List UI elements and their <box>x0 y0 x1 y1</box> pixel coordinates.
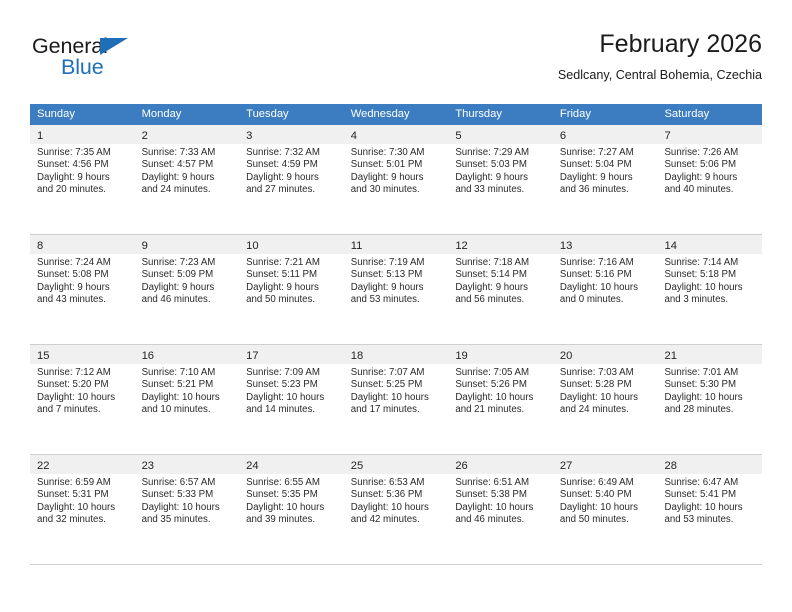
day-details: Sunrise: 7:30 AMSunset: 5:01 PMDaylight:… <box>344 144 449 197</box>
daylight-text-line2: and 46 minutes. <box>455 514 547 526</box>
sunrise-text: Sunrise: 6:53 AM <box>351 477 443 489</box>
day-number: 1 <box>37 130 43 142</box>
day-details: Sunrise: 6:59 AMSunset: 5:31 PMDaylight:… <box>30 474 135 527</box>
sunrise-text: Sunrise: 7:07 AM <box>351 367 443 379</box>
daylight-text-line2: and 53 minutes. <box>351 294 443 306</box>
sunrise-text: Sunrise: 7:35 AM <box>37 147 129 159</box>
day-number-band: 16 <box>135 345 240 364</box>
day-number: 25 <box>351 460 363 472</box>
day-number: 24 <box>246 460 258 472</box>
day-number-band: 26 <box>448 455 553 474</box>
daylight-text-line1: Daylight: 9 hours <box>37 172 129 184</box>
daylight-text-line1: Daylight: 10 hours <box>455 502 547 514</box>
day-number-band: 11 <box>344 235 449 254</box>
sunset-text: Sunset: 5:06 PM <box>664 159 756 171</box>
day-number: 10 <box>246 240 258 252</box>
daylight-text-line2: and 3 minutes. <box>664 294 756 306</box>
sunset-text: Sunset: 5:33 PM <box>142 489 234 501</box>
day-cell[interactable]: 17Sunrise: 7:09 AMSunset: 5:23 PMDayligh… <box>239 345 344 454</box>
day-cell[interactable]: 6Sunrise: 7:27 AMSunset: 5:04 PMDaylight… <box>553 125 658 234</box>
day-number: 17 <box>246 350 258 362</box>
page-header: General Blue February 2026 Sedlcany, Cen… <box>30 28 762 98</box>
day-number: 21 <box>664 350 676 362</box>
page-subtitle: Sedlcany, Central Bohemia, Czechia <box>558 65 762 85</box>
sunset-text: Sunset: 5:09 PM <box>142 269 234 281</box>
daylight-text-line1: Daylight: 10 hours <box>246 392 338 404</box>
day-cell[interactable]: 2Sunrise: 7:33 AMSunset: 4:57 PMDaylight… <box>135 125 240 234</box>
sunset-text: Sunset: 5:30 PM <box>664 379 756 391</box>
weekday-header-saturday: Saturday <box>657 104 762 125</box>
sunset-text: Sunset: 5:35 PM <box>246 489 338 501</box>
sunrise-text: Sunrise: 6:47 AM <box>664 477 756 489</box>
day-details: Sunrise: 7:26 AMSunset: 5:06 PMDaylight:… <box>657 144 762 197</box>
day-number: 11 <box>351 240 363 252</box>
day-details: Sunrise: 7:19 AMSunset: 5:13 PMDaylight:… <box>344 254 449 307</box>
day-number-band: 24 <box>239 455 344 474</box>
day-cell[interactable]: 12Sunrise: 7:18 AMSunset: 5:14 PMDayligh… <box>448 235 553 344</box>
calendar-grid: SundayMondayTuesdayWednesdayThursdayFrid… <box>30 104 762 565</box>
day-details: Sunrise: 6:57 AMSunset: 5:33 PMDaylight:… <box>135 474 240 527</box>
day-details: Sunrise: 7:01 AMSunset: 5:30 PMDaylight:… <box>657 364 762 417</box>
day-details: Sunrise: 7:32 AMSunset: 4:59 PMDaylight:… <box>239 144 344 197</box>
day-number: 14 <box>664 240 676 252</box>
daylight-text-line2: and 21 minutes. <box>455 404 547 416</box>
weekday-header-row: SundayMondayTuesdayWednesdayThursdayFrid… <box>30 104 762 125</box>
day-number-band: 27 <box>553 455 658 474</box>
day-details: Sunrise: 7:23 AMSunset: 5:09 PMDaylight:… <box>135 254 240 307</box>
sunset-text: Sunset: 5:16 PM <box>560 269 652 281</box>
sunrise-text: Sunrise: 7:05 AM <box>455 367 547 379</box>
sunrise-text: Sunrise: 6:59 AM <box>37 477 129 489</box>
day-number: 26 <box>455 460 467 472</box>
sunset-text: Sunset: 5:23 PM <box>246 379 338 391</box>
day-number: 12 <box>455 240 467 252</box>
day-details: Sunrise: 7:10 AMSunset: 5:21 PMDaylight:… <box>135 364 240 417</box>
day-cell[interactable]: 28Sunrise: 6:47 AMSunset: 5:41 PMDayligh… <box>657 455 762 564</box>
sunrise-text: Sunrise: 7:19 AM <box>351 257 443 269</box>
daylight-text-line2: and 27 minutes. <box>246 184 338 196</box>
page-title: February 2026 <box>558 28 762 60</box>
sunset-text: Sunset: 5:25 PM <box>351 379 443 391</box>
day-number: 9 <box>142 240 148 252</box>
day-number: 2 <box>142 130 148 142</box>
sunset-text: Sunset: 5:28 PM <box>560 379 652 391</box>
day-cell[interactable]: 13Sunrise: 7:16 AMSunset: 5:16 PMDayligh… <box>553 235 658 344</box>
sunset-text: Sunset: 5:26 PM <box>455 379 547 391</box>
sunset-text: Sunset: 5:41 PM <box>664 489 756 501</box>
day-number-band: 6 <box>553 125 658 144</box>
sunrise-text: Sunrise: 6:51 AM <box>455 477 547 489</box>
day-number: 5 <box>455 130 461 142</box>
sunset-text: Sunset: 5:04 PM <box>560 159 652 171</box>
week-row: 22Sunrise: 6:59 AMSunset: 5:31 PMDayligh… <box>30 455 762 565</box>
sunset-text: Sunset: 4:56 PM <box>37 159 129 171</box>
daylight-text-line2: and 17 minutes. <box>351 404 443 416</box>
daylight-text-line1: Daylight: 9 hours <box>560 172 652 184</box>
daylight-text-line2: and 50 minutes. <box>560 514 652 526</box>
weekday-header-monday: Monday <box>135 104 240 125</box>
day-cell[interactable]: 19Sunrise: 7:05 AMSunset: 5:26 PMDayligh… <box>448 345 553 454</box>
day-details: Sunrise: 7:33 AMSunset: 4:57 PMDaylight:… <box>135 144 240 197</box>
day-cell[interactable]: 22Sunrise: 6:59 AMSunset: 5:31 PMDayligh… <box>30 455 135 564</box>
sunset-text: Sunset: 5:38 PM <box>455 489 547 501</box>
sunrise-text: Sunrise: 6:57 AM <box>142 477 234 489</box>
day-cell[interactable]: 5Sunrise: 7:29 AMSunset: 5:03 PMDaylight… <box>448 125 553 234</box>
daylight-text-line1: Daylight: 10 hours <box>142 502 234 514</box>
sunrise-text: Sunrise: 7:33 AM <box>142 147 234 159</box>
sunset-text: Sunset: 5:18 PM <box>664 269 756 281</box>
day-number-band: 2 <box>135 125 240 144</box>
day-cell[interactable]: 1Sunrise: 7:35 AMSunset: 4:56 PMDaylight… <box>30 125 135 234</box>
sunrise-text: Sunrise: 7:18 AM <box>455 257 547 269</box>
daylight-text-line2: and 33 minutes. <box>455 184 547 196</box>
daylight-text-line1: Daylight: 9 hours <box>246 172 338 184</box>
day-number-band: 17 <box>239 345 344 364</box>
day-details: Sunrise: 6:47 AMSunset: 5:41 PMDaylight:… <box>657 474 762 527</box>
day-number-band: 19 <box>448 345 553 364</box>
day-number-band: 18 <box>344 345 449 364</box>
day-number: 4 <box>351 130 357 142</box>
day-cell[interactable]: 20Sunrise: 7:03 AMSunset: 5:28 PMDayligh… <box>553 345 658 454</box>
daylight-text-line1: Daylight: 10 hours <box>142 392 234 404</box>
sunrise-text: Sunrise: 7:14 AM <box>664 257 756 269</box>
day-number: 27 <box>560 460 572 472</box>
day-number-band: 22 <box>30 455 135 474</box>
sunrise-text: Sunrise: 7:23 AM <box>142 257 234 269</box>
daylight-text-line1: Daylight: 9 hours <box>351 172 443 184</box>
daylight-text-line1: Daylight: 10 hours <box>560 282 652 294</box>
daylight-text-line1: Daylight: 9 hours <box>455 282 547 294</box>
day-cell[interactable]: 3Sunrise: 7:32 AMSunset: 4:59 PMDaylight… <box>239 125 344 234</box>
day-number-band: 8 <box>30 235 135 254</box>
weekday-header-friday: Friday <box>553 104 658 125</box>
daylight-text-line2: and 20 minutes. <box>37 184 129 196</box>
weekday-header-sunday: Sunday <box>30 104 135 125</box>
weekday-header-tuesday: Tuesday <box>239 104 344 125</box>
daylight-text-line2: and 7 minutes. <box>37 404 129 416</box>
sunrise-text: Sunrise: 7:27 AM <box>560 147 652 159</box>
sunset-text: Sunset: 5:36 PM <box>351 489 443 501</box>
day-details: Sunrise: 6:55 AMSunset: 5:35 PMDaylight:… <box>239 474 344 527</box>
day-cell[interactable]: 10Sunrise: 7:21 AMSunset: 5:11 PMDayligh… <box>239 235 344 344</box>
day-number: 23 <box>142 460 154 472</box>
sunrise-text: Sunrise: 7:26 AM <box>664 147 756 159</box>
general-blue-logo[interactable]: General Blue <box>32 36 232 92</box>
daylight-text-line2: and 46 minutes. <box>142 294 234 306</box>
day-cell[interactable]: 25Sunrise: 6:53 AMSunset: 5:36 PMDayligh… <box>344 455 449 564</box>
sunset-text: Sunset: 5:08 PM <box>37 269 129 281</box>
logo-text-blue: Blue <box>61 57 104 79</box>
sunset-text: Sunset: 5:31 PM <box>37 489 129 501</box>
day-number-band: 4 <box>344 125 449 144</box>
sunset-text: Sunset: 4:57 PM <box>142 159 234 171</box>
day-number-band: 5 <box>448 125 553 144</box>
daylight-text-line1: Daylight: 10 hours <box>664 502 756 514</box>
sunset-text: Sunset: 5:40 PM <box>560 489 652 501</box>
sunrise-text: Sunrise: 7:09 AM <box>246 367 338 379</box>
day-details: Sunrise: 7:21 AMSunset: 5:11 PMDaylight:… <box>239 254 344 307</box>
sunset-text: Sunset: 5:21 PM <box>142 379 234 391</box>
daylight-text-line2: and 14 minutes. <box>246 404 338 416</box>
week-row: 15Sunrise: 7:12 AMSunset: 5:20 PMDayligh… <box>30 345 762 455</box>
weekday-header-wednesday: Wednesday <box>344 104 449 125</box>
day-details: Sunrise: 6:51 AMSunset: 5:38 PMDaylight:… <box>448 474 553 527</box>
daylight-text-line2: and 53 minutes. <box>664 514 756 526</box>
week-row: 1Sunrise: 7:35 AMSunset: 4:56 PMDaylight… <box>30 125 762 235</box>
day-details: Sunrise: 6:49 AMSunset: 5:40 PMDaylight:… <box>553 474 658 527</box>
day-details: Sunrise: 6:53 AMSunset: 5:36 PMDaylight:… <box>344 474 449 527</box>
daylight-text-line1: Daylight: 10 hours <box>37 502 129 514</box>
day-cell[interactable]: 23Sunrise: 6:57 AMSunset: 5:33 PMDayligh… <box>135 455 240 564</box>
day-number: 22 <box>37 460 49 472</box>
daylight-text-line1: Daylight: 10 hours <box>560 502 652 514</box>
day-number: 28 <box>664 460 676 472</box>
sunset-text: Sunset: 4:59 PM <box>246 159 338 171</box>
day-number-band: 9 <box>135 235 240 254</box>
daylight-text-line1: Daylight: 10 hours <box>455 392 547 404</box>
daylight-text-line2: and 56 minutes. <box>455 294 547 306</box>
day-details: Sunrise: 7:18 AMSunset: 5:14 PMDaylight:… <box>448 254 553 307</box>
sunrise-text: Sunrise: 6:55 AM <box>246 477 338 489</box>
daylight-text-line2: and 28 minutes. <box>664 404 756 416</box>
sunset-text: Sunset: 5:13 PM <box>351 269 443 281</box>
sunrise-text: Sunrise: 7:29 AM <box>455 147 547 159</box>
daylight-text-line2: and 24 minutes. <box>560 404 652 416</box>
day-cell[interactable]: 9Sunrise: 7:23 AMSunset: 5:09 PMDaylight… <box>135 235 240 344</box>
day-details: Sunrise: 7:29 AMSunset: 5:03 PMDaylight:… <box>448 144 553 197</box>
calendar-weeks: 1Sunrise: 7:35 AMSunset: 4:56 PMDaylight… <box>30 125 762 565</box>
day-cell[interactable]: 18Sunrise: 7:07 AMSunset: 5:25 PMDayligh… <box>344 345 449 454</box>
day-details: Sunrise: 7:27 AMSunset: 5:04 PMDaylight:… <box>553 144 658 197</box>
daylight-text-line2: and 36 minutes. <box>560 184 652 196</box>
sunrise-text: Sunrise: 7:16 AM <box>560 257 652 269</box>
day-cell[interactable]: 4Sunrise: 7:30 AMSunset: 5:01 PMDaylight… <box>344 125 449 234</box>
sunset-text: Sunset: 5:03 PM <box>455 159 547 171</box>
daylight-text-line2: and 39 minutes. <box>246 514 338 526</box>
day-cell[interactable]: 24Sunrise: 6:55 AMSunset: 5:35 PMDayligh… <box>239 455 344 564</box>
daylight-text-line1: Daylight: 9 hours <box>664 172 756 184</box>
daylight-text-line1: Daylight: 10 hours <box>37 392 129 404</box>
daylight-text-line2: and 43 minutes. <box>37 294 129 306</box>
day-number-band: 12 <box>448 235 553 254</box>
day-cell[interactable]: 11Sunrise: 7:19 AMSunset: 5:13 PMDayligh… <box>344 235 449 344</box>
daylight-text-line1: Daylight: 10 hours <box>351 502 443 514</box>
day-number-band: 23 <box>135 455 240 474</box>
daylight-text-line1: Daylight: 9 hours <box>246 282 338 294</box>
sunrise-text: Sunrise: 7:01 AM <box>664 367 756 379</box>
day-number: 18 <box>351 350 363 362</box>
day-details: Sunrise: 7:07 AMSunset: 5:25 PMDaylight:… <box>344 364 449 417</box>
day-number: 16 <box>142 350 154 362</box>
daylight-text-line1: Daylight: 9 hours <box>455 172 547 184</box>
daylight-text-line2: and 35 minutes. <box>142 514 234 526</box>
daylight-text-line1: Daylight: 9 hours <box>142 172 234 184</box>
day-number: 8 <box>37 240 43 252</box>
day-cell[interactable]: 15Sunrise: 7:12 AMSunset: 5:20 PMDayligh… <box>30 345 135 454</box>
day-number: 19 <box>455 350 467 362</box>
day-cell[interactable]: 26Sunrise: 6:51 AMSunset: 5:38 PMDayligh… <box>448 455 553 564</box>
day-number: 20 <box>560 350 572 362</box>
sunrise-text: Sunrise: 7:30 AM <box>351 147 443 159</box>
weekday-header-thursday: Thursday <box>448 104 553 125</box>
daylight-text-line1: Daylight: 9 hours <box>142 282 234 294</box>
daylight-text-line1: Daylight: 9 hours <box>37 282 129 294</box>
day-number-band: 7 <box>657 125 762 144</box>
title-block: February 2026 Sedlcany, Central Bohemia,… <box>558 28 762 85</box>
daylight-text-line1: Daylight: 10 hours <box>664 392 756 404</box>
day-number-band: 15 <box>30 345 135 364</box>
daylight-text-line1: Daylight: 10 hours <box>664 282 756 294</box>
day-number: 3 <box>246 130 252 142</box>
daylight-text-line1: Daylight: 10 hours <box>246 502 338 514</box>
day-number-band: 21 <box>657 345 762 364</box>
day-number-band: 25 <box>344 455 449 474</box>
sunset-text: Sunset: 5:20 PM <box>37 379 129 391</box>
day-cell[interactable]: 16Sunrise: 7:10 AMSunset: 5:21 PMDayligh… <box>135 345 240 454</box>
day-details: Sunrise: 7:03 AMSunset: 5:28 PMDaylight:… <box>553 364 658 417</box>
day-details: Sunrise: 7:16 AMSunset: 5:16 PMDaylight:… <box>553 254 658 307</box>
daylight-text-line2: and 24 minutes. <box>142 184 234 196</box>
daylight-text-line1: Daylight: 9 hours <box>351 282 443 294</box>
calendar-page: General Blue February 2026 Sedlcany, Cen… <box>0 0 792 612</box>
week-row: 8Sunrise: 7:24 AMSunset: 5:08 PMDaylight… <box>30 235 762 345</box>
day-cell[interactable]: 27Sunrise: 6:49 AMSunset: 5:40 PMDayligh… <box>553 455 658 564</box>
daylight-text-line2: and 10 minutes. <box>142 404 234 416</box>
sunrise-text: Sunrise: 7:21 AM <box>246 257 338 269</box>
day-number: 13 <box>560 240 572 252</box>
day-details: Sunrise: 7:05 AMSunset: 5:26 PMDaylight:… <box>448 364 553 417</box>
sunrise-text: Sunrise: 6:49 AM <box>560 477 652 489</box>
daylight-text-line1: Daylight: 10 hours <box>351 392 443 404</box>
sunrise-text: Sunrise: 7:12 AM <box>37 367 129 379</box>
day-details: Sunrise: 7:12 AMSunset: 5:20 PMDaylight:… <box>30 364 135 417</box>
sunset-text: Sunset: 5:14 PM <box>455 269 547 281</box>
sunrise-text: Sunrise: 7:32 AM <box>246 147 338 159</box>
day-details: Sunrise: 7:14 AMSunset: 5:18 PMDaylight:… <box>657 254 762 307</box>
day-details: Sunrise: 7:35 AMSunset: 4:56 PMDaylight:… <box>30 144 135 197</box>
sunrise-text: Sunrise: 7:24 AM <box>37 257 129 269</box>
day-number-band: 1 <box>30 125 135 144</box>
day-details: Sunrise: 7:09 AMSunset: 5:23 PMDaylight:… <box>239 364 344 417</box>
day-cell[interactable]: 8Sunrise: 7:24 AMSunset: 5:08 PMDaylight… <box>30 235 135 344</box>
sunset-text: Sunset: 5:01 PM <box>351 159 443 171</box>
day-number-band: 28 <box>657 455 762 474</box>
day-cell[interactable]: 7Sunrise: 7:26 AMSunset: 5:06 PMDaylight… <box>657 125 762 234</box>
day-number: 6 <box>560 130 566 142</box>
day-number-band: 3 <box>239 125 344 144</box>
day-number-band: 20 <box>553 345 658 364</box>
day-number-band: 13 <box>553 235 658 254</box>
daylight-text-line2: and 32 minutes. <box>37 514 129 526</box>
daylight-text-line1: Daylight: 10 hours <box>560 392 652 404</box>
sunrise-text: Sunrise: 7:03 AM <box>560 367 652 379</box>
day-cell[interactable]: 21Sunrise: 7:01 AMSunset: 5:30 PMDayligh… <box>657 345 762 454</box>
logo-triangle-icon <box>100 38 128 55</box>
sunset-text: Sunset: 5:11 PM <box>246 269 338 281</box>
daylight-text-line2: and 40 minutes. <box>664 184 756 196</box>
daylight-text-line2: and 50 minutes. <box>246 294 338 306</box>
daylight-text-line2: and 0 minutes. <box>560 294 652 306</box>
sunrise-text: Sunrise: 7:10 AM <box>142 367 234 379</box>
day-number-band: 14 <box>657 235 762 254</box>
day-number-band: 10 <box>239 235 344 254</box>
day-details: Sunrise: 7:24 AMSunset: 5:08 PMDaylight:… <box>30 254 135 307</box>
day-cell[interactable]: 14Sunrise: 7:14 AMSunset: 5:18 PMDayligh… <box>657 235 762 344</box>
daylight-text-line2: and 30 minutes. <box>351 184 443 196</box>
daylight-text-line2: and 42 minutes. <box>351 514 443 526</box>
day-number: 7 <box>664 130 670 142</box>
day-number: 15 <box>37 350 49 362</box>
